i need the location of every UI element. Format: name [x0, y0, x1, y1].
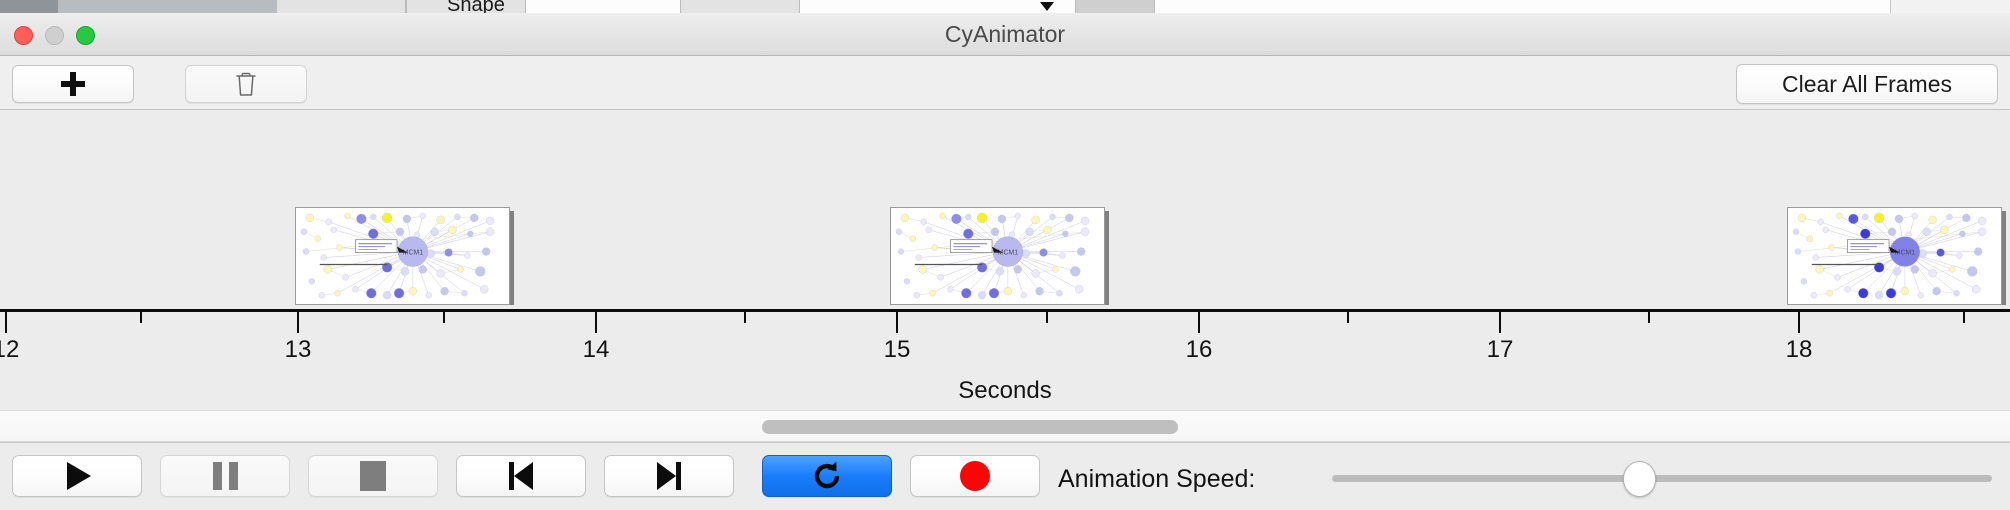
skip-next-icon — [657, 462, 681, 490]
window-title: CyAnimator — [0, 13, 2010, 56]
network-graph-thumbnail: MCM1 — [296, 208, 509, 305]
traffic-light-group — [14, 26, 95, 45]
axis-tick-minor — [140, 312, 142, 323]
axis-tick-major — [896, 312, 898, 333]
network-graph-thumbnail: MCM1 — [891, 208, 1104, 305]
background-titlebar-dark — [0, 0, 58, 13]
background-caret-icon — [1040, 2, 1054, 11]
trash-icon — [235, 71, 257, 97]
axis-tick-major — [1798, 312, 1800, 333]
axis-line — [0, 309, 2010, 312]
axis-tick-label: 12 — [0, 336, 19, 364]
keyframe-thumbnail[interactable]: MCM1 — [1787, 207, 2002, 305]
axis-tick-minor — [1648, 312, 1650, 323]
cyanimator-window: Shape CyAnimator Clear All Frames MCM1MC… — [0, 0, 2010, 510]
skip-previous-icon — [509, 462, 533, 490]
timeline-scrollbar[interactable] — [0, 410, 2010, 442]
clear-all-frames-button[interactable]: Clear All Frames — [1736, 64, 1998, 104]
keyframe-thumbnail[interactable]: MCM1 — [890, 207, 1105, 305]
playback-control-bar: Animation Speed: — [0, 442, 2010, 510]
background-window-strip: Shape — [0, 0, 2010, 13]
background-right-panel — [1890, 0, 2010, 13]
axis-tick-minor — [1347, 312, 1349, 323]
skip-next-button[interactable] — [604, 455, 734, 497]
minimize-button[interactable] — [45, 26, 64, 45]
axis-tick-label: 14 — [583, 336, 610, 364]
stop-button[interactable] — [308, 455, 438, 497]
axis-tick-major — [595, 312, 597, 333]
background-tab-4 — [1075, 0, 1155, 13]
axis-tick-minor — [1963, 312, 1965, 323]
keyframe-thumbnail[interactable]: MCM1 — [295, 207, 510, 305]
toolbar: Clear All Frames — [0, 56, 2010, 110]
stop-icon — [360, 461, 386, 491]
pause-icon — [213, 462, 238, 490]
pause-button[interactable] — [160, 455, 290, 497]
axis-tick-label: 13 — [285, 336, 312, 364]
record-icon — [960, 461, 990, 491]
title-bar: CyAnimator — [0, 13, 2010, 56]
axis-tick-major — [5, 312, 7, 333]
background-tab-1 — [276, 0, 406, 13]
timeline-axis: Seconds 12131415161718 — [0, 305, 2010, 400]
record-button[interactable] — [910, 455, 1040, 497]
animation-speed-label: Animation Speed: — [1058, 465, 1255, 494]
svg-text:MCM1: MCM1 — [1895, 250, 1916, 257]
background-window-label: Shape — [447, 0, 505, 13]
animation-speed-slider[interactable] — [1332, 475, 1992, 483]
svg-text:MCM1: MCM1 — [998, 250, 1019, 257]
axis-tick-minor — [1046, 312, 1048, 323]
axis-tick-label: 17 — [1487, 336, 1514, 364]
slider-knob[interactable] — [1623, 461, 1656, 497]
axis-tick-label: 18 — [1786, 336, 1813, 364]
axis-title: Seconds — [0, 377, 2010, 405]
axis-tick-minor — [443, 312, 445, 323]
skip-previous-button[interactable] — [456, 455, 586, 497]
background-titlebar-light — [58, 0, 276, 13]
network-graph-thumbnail: MCM1 — [1788, 208, 2001, 305]
loop-button[interactable] — [762, 455, 892, 497]
timeline-scrollbar-thumb[interactable] — [762, 420, 1178, 434]
add-frame-button[interactable] — [12, 65, 134, 103]
play-button[interactable] — [12, 455, 142, 497]
background-tab-3 — [680, 0, 800, 13]
clear-all-frames-label: Clear All Frames — [1782, 71, 1952, 98]
axis-tick-label: 15 — [884, 336, 911, 364]
keyframe-track[interactable]: MCM1MCM1MCM1 — [0, 110, 2010, 305]
loop-refresh-icon — [810, 459, 844, 493]
zoom-button[interactable] — [76, 26, 95, 45]
axis-tick-label: 16 — [1186, 336, 1213, 364]
close-button[interactable] — [14, 26, 33, 45]
axis-tick-minor — [744, 312, 746, 323]
delete-frame-button[interactable] — [185, 65, 307, 103]
axis-tick-major — [297, 312, 299, 333]
axis-tick-major — [1499, 312, 1501, 333]
play-icon — [67, 462, 91, 490]
axis-tick-major — [1198, 312, 1200, 333]
svg-text:MCM1: MCM1 — [403, 250, 424, 257]
plus-icon — [61, 72, 85, 96]
slider-track — [1332, 475, 1992, 482]
